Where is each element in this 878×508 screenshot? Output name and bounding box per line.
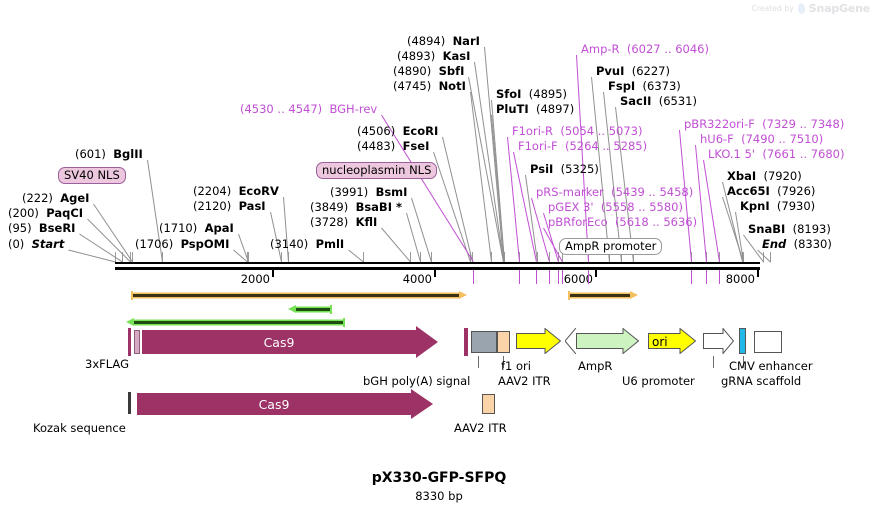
enzyme-label-ecorv: (2204) EcoRV [193, 185, 279, 197]
primer-range: (5618 .. 5636) [615, 215, 697, 229]
enzyme-position: (2204) [193, 184, 231, 198]
enzyme-name: PspOMI [181, 237, 230, 251]
primer-range: (5054 .. 5073) [560, 124, 642, 138]
primer-arrow-head [288, 305, 296, 313]
feature-aav2-itr[interactable] [497, 331, 510, 353]
primer-tick [473, 270, 474, 284]
enzyme-label-pasi: (2120) PasI [193, 200, 266, 212]
enzyme-label-bsabi-: (3849) BsaBI * [310, 201, 402, 213]
enzyme-position: (4745) [393, 79, 431, 93]
enzyme-label-agei: (222) AgeI [22, 192, 89, 204]
enzyme-label-pmli: (3140) PmlI [270, 238, 344, 250]
snapgene-watermark: Created by SnapGene [752, 2, 871, 15]
feature-grna-scaffold[interactable] [739, 328, 746, 354]
primer-tick [562, 270, 563, 284]
leader-line [576, 55, 589, 262]
feature-ampr[interactable] [576, 328, 639, 354]
primer-name: pGEX 3' [548, 200, 594, 214]
primer-tick [549, 270, 550, 284]
enzyme-position: (3728) [310, 215, 348, 229]
enzyme-name: BseRI [39, 221, 76, 235]
enzyme-label-sbfi: (4890) SbfI [393, 65, 464, 77]
enzyme-name: SfoI [496, 87, 521, 101]
feature-ori[interactable]: ori [648, 328, 696, 354]
primer-label-prs-marker: pRS-marker (5439 .. 5458) [536, 186, 693, 198]
enzyme-position: (95) [8, 221, 32, 235]
primer-tick [519, 270, 520, 284]
enzyme-position: (0) [8, 237, 24, 251]
ruler-tick-label: 6000 [564, 272, 595, 286]
ruler-tick [272, 270, 274, 277]
feature-cas9[interactable]: Cas9 [142, 326, 438, 358]
primer-arrow-shaft [134, 321, 343, 324]
enzyme-name: FseI [403, 139, 430, 153]
primer-range: (7329 .. 7348) [762, 117, 844, 131]
feature-arrow-shape [576, 328, 639, 354]
primer-arrow-shaft [296, 308, 330, 311]
enzyme-name: PasI [239, 199, 266, 213]
primer-range: (6027 .. 6046) [627, 42, 709, 56]
feature-arrow-shape [516, 328, 561, 354]
enzyme-label-xbai: XbaI (7920) [727, 170, 802, 182]
enzyme-position: (4483) [357, 139, 395, 153]
enzyme-label-bglii: (601) BglII [75, 148, 143, 160]
primer-range: (5558 .. 5580) [601, 200, 683, 214]
enzyme-name: XbaI [727, 169, 756, 183]
page-title: pX330-GFP-SFPQ [0, 470, 878, 486]
enzyme-position: (8330) [794, 237, 832, 251]
enzyme-position: (3991) [330, 185, 368, 199]
feature-nucleoplasmin-nls-bar[interactable] [464, 328, 468, 356]
arrow-orange-1 [131, 291, 467, 300]
primer-arrow-tail [568, 291, 570, 300]
arrow-orange-2 [568, 291, 638, 300]
enzyme-label-paqci: (200) PaqCI [8, 207, 83, 219]
enzyme-position: (7920) [763, 169, 801, 183]
feature-label-f1-ori: f1 ori [501, 359, 531, 373]
enzyme-position: (6373) [643, 79, 681, 93]
enzyme-label-end: End (8330) [762, 238, 832, 250]
primer-tick [706, 270, 707, 284]
primer-name: Amp-R [581, 42, 620, 56]
primer-arrow-head [459, 291, 467, 299]
leader-line [695, 145, 707, 262]
enzyme-label-pspomi: (1706) PspOMI [135, 238, 229, 250]
feature-aav2-itr-row2[interactable] [482, 394, 495, 414]
enzyme-position: (4890) [393, 64, 431, 78]
primer-label-pbr322ori-f: pBR322ori-F (7329 .. 7348) [684, 118, 844, 130]
snapgene-map-canvas: Created by SnapGene (0) Start(95) BseRI(… [0, 0, 878, 508]
enzyme-label-kasi: (4893) KasI [397, 50, 470, 62]
enzyme-label-fspi: FspI (6373) [608, 80, 681, 92]
enzyme-name: BglII [113, 147, 143, 161]
enzyme-name: KasI [443, 49, 471, 63]
feature-label-u6-promoter: U6 promoter [622, 374, 695, 388]
feature-label-bgh-poly-a-signal: bGH poly(A) signal [363, 374, 470, 388]
primer-tick [558, 270, 559, 284]
feature-badge-ampr-promoter[interactable]: AmpR promoter [559, 238, 662, 255]
enzyme-label-sfoi: SfoI (4895) [496, 88, 567, 100]
enzyme-position: (6531) [659, 94, 697, 108]
leader-line [283, 197, 289, 262]
primer-name: F1ori-R [512, 124, 553, 138]
enzyme-position: (601) [75, 147, 106, 161]
feature-arrow-shape [703, 328, 734, 354]
enzyme-name: SbfI [439, 64, 465, 78]
feature-arrow-shape [565, 328, 576, 354]
ruler-tick-label: 2000 [241, 272, 272, 286]
enzyme-name: Start [32, 237, 65, 251]
primer-label-hu6-f: hU6-F (7490 .. 7510) [700, 133, 823, 145]
primer-label-f1ori-f: F1ori-F (5264 .. 5285) [518, 140, 647, 152]
primer-tick [536, 270, 537, 284]
feature-label-aav2-itr-row2: AAV2 ITR [454, 421, 507, 435]
watermark-brand-text: SnapGene [809, 2, 870, 15]
primer-name: pBR322ori-F [684, 117, 755, 131]
feature-label-connector [713, 356, 714, 368]
leader-line [470, 92, 492, 262]
primer-label-pgex-3-: pGEX 3' (5558 .. 5580) [548, 201, 683, 213]
ruler-tick [757, 270, 759, 277]
enzyme-name: EcoRI [403, 124, 439, 138]
enzyme-name: SnaBI [748, 222, 785, 236]
enzyme-label-bseri: (95) BseRI [8, 222, 75, 234]
enzyme-label-nari: (4894) NarI [407, 35, 480, 47]
primer-label-pbrforeco: pBRforEco (5618 .. 5636) [548, 216, 697, 228]
feature-cas9-row2[interactable]: Cas9 [137, 389, 433, 419]
enzyme-name: Acc65I [727, 184, 770, 198]
primer-name: pBRforEco [548, 215, 608, 229]
primer-name: pRS-marker [536, 185, 604, 199]
ruler-line-bottom [115, 267, 760, 270]
enzyme-label-noti: (4745) NotI [393, 80, 466, 92]
enzyme-name: End [762, 237, 786, 251]
primer-name: LKO.1 5' [708, 147, 755, 161]
enzyme-position: (4894) [407, 34, 445, 48]
enzyme-position: (4893) [397, 49, 435, 63]
primer-arrow-tail [330, 305, 332, 314]
feature-label-connector [478, 356, 479, 368]
feature-label-cmv-enhancer: CMV enhancer [729, 359, 813, 373]
feature-label-3xflag: 3xFLAG [85, 357, 129, 371]
feature-badge-nucleoplasmin-nls[interactable]: nucleoplasmin NLS [316, 162, 437, 179]
enzyme-position: (7930) [777, 199, 815, 213]
enzyme-name: EcoRV [239, 184, 279, 198]
feature-bgh-poly-a-signal[interactable] [471, 331, 497, 353]
arrow-green-1 [288, 305, 332, 314]
primer-arrow-head [126, 318, 134, 326]
enzyme-name: PaqCI [46, 206, 83, 220]
ruler-tick [595, 270, 597, 277]
enzyme-name: SacII [620, 94, 651, 108]
enzyme-name: PsiI [530, 162, 553, 176]
enzyme-position: (200) [8, 206, 39, 220]
leader-line [743, 235, 764, 263]
feature-sv40-nls-bar[interactable] [134, 330, 140, 354]
enzyme-position: (3140) [270, 237, 308, 251]
primer-range: (5264 .. 5285) [565, 139, 647, 153]
primer-label-amp-r: Amp-R (6027 .. 6046) [581, 43, 709, 55]
primer-arrow-tail [131, 291, 133, 300]
primer-name: hU6-F [700, 132, 734, 146]
primer-tick [719, 270, 720, 284]
primer-arrow-shaft [570, 294, 630, 297]
enzyme-position: (1710) [159, 221, 197, 235]
primer-tick [691, 270, 692, 284]
feature-label-ampr: AmpR [578, 359, 612, 373]
enzyme-position: (4506) [357, 124, 395, 138]
enzyme-name: FspI [608, 79, 635, 93]
primer-range: (7661 .. 7680) [762, 147, 844, 161]
feature-label-aav2-itr: AAV2 ITR [498, 374, 551, 388]
leader-line [93, 204, 133, 263]
feature-label: Cas9 [142, 335, 416, 350]
enzyme-position: (2120) [193, 199, 231, 213]
enzyme-label-acc65i: Acc65I (7926) [727, 185, 815, 197]
primer-range: (5439 .. 5458) [611, 185, 693, 199]
enzyme-label-pluti: PluTI (4897) [496, 103, 574, 115]
enzyme-position: (3849) [310, 200, 348, 214]
ruler-tick [434, 270, 436, 277]
enzyme-name: NotI [439, 79, 466, 93]
enzyme-name: KpnI [740, 199, 770, 213]
primer-arrow-head [630, 291, 638, 299]
feature-u6-promoter[interactable] [703, 328, 734, 354]
feature-kozak-sequence[interactable] [128, 392, 131, 414]
enzyme-position: (5325) [561, 162, 599, 176]
ruler-line-top [115, 262, 760, 264]
enzyme-label-fsei: (4483) FseI [357, 140, 429, 152]
enzyme-label-pvui: PvuI (6227) [596, 65, 670, 77]
enzyme-name: NarI [453, 34, 480, 48]
enzyme-name: PluTI [496, 102, 529, 116]
feature-label-kozak-sequence: Kozak sequence [33, 421, 126, 435]
primer-tick [588, 270, 589, 284]
enzyme-label-ecori: (4506) EcoRI [357, 125, 438, 137]
primer-label-f1ori-r: F1ori-R (5054 .. 5073) [512, 125, 642, 137]
enzyme-position: (8193) [793, 222, 831, 236]
snapgene-logo-icon [797, 3, 805, 15]
enzyme-label-snabi: SnaBI (8193) [748, 223, 831, 235]
enzyme-name: BsmI [376, 185, 408, 199]
primer-label-lko-1-5-: LKO.1 5' (7661 .. 7680) [708, 148, 844, 160]
feature-label-grna-scaffold: gRNA scaffold [721, 374, 801, 388]
enzyme-label-sacii: SacII (6531) [620, 95, 697, 107]
watermark-created-by-text: Created by [752, 4, 794, 13]
primer-range: (7490 .. 7510) [741, 132, 823, 146]
enzyme-position: (1706) [135, 237, 173, 251]
primer-name: BGH-rev [329, 102, 377, 116]
leader-line [381, 228, 411, 263]
page-subtitle: 8330 bp [0, 489, 878, 503]
enzyme-label-apai: (1710) ApaI [159, 222, 234, 234]
feature-3xflag[interactable] [128, 328, 131, 356]
feature-arrow-tip [416, 326, 438, 358]
enzyme-name: PvuI [596, 64, 624, 78]
feature-u6-promoter-left[interactable] [565, 328, 576, 354]
primer-range: (4530 .. 4547) [240, 102, 322, 116]
enzyme-label-psii: PsiI (5325) [530, 163, 599, 175]
feature-badge-sv40-nls[interactable]: SV40 NLS [58, 167, 126, 184]
enzyme-position: (4895) [529, 87, 567, 101]
enzyme-position: (6227) [632, 64, 670, 78]
enzyme-name: ApaI [205, 221, 234, 235]
enzyme-position: (4897) [536, 102, 574, 116]
primer-name: F1ori-F [518, 139, 558, 153]
feature-cmv-enhancer[interactable] [754, 331, 782, 353]
leader-line [411, 198, 432, 262]
enzyme-label-start: (0) Start [8, 238, 64, 250]
feature-arrow-tip [411, 389, 433, 419]
ruler-tick-label: 4000 [403, 272, 434, 286]
ruler-tick-label: 8000 [726, 272, 757, 286]
enzyme-label-kpni: KpnI (7930) [740, 200, 815, 212]
enzyme-name: KflI [356, 215, 378, 229]
enzyme-name: PmlI [316, 237, 345, 251]
leader-line [442, 137, 473, 262]
enzyme-position: (7926) [777, 184, 815, 198]
enzyme-label-kfli: (3728) KflI [310, 216, 377, 228]
primer-arrow-shaft [133, 294, 459, 297]
leader-line [348, 250, 364, 263]
feature-f1-ori[interactable] [516, 328, 561, 354]
enzyme-position: (222) [22, 191, 53, 205]
enzyme-label-bsmi: (3991) BsmI [330, 186, 407, 198]
enzyme-name: BsaBI * [356, 200, 402, 214]
feature-label: Cas9 [137, 397, 411, 412]
primer-label-bgh-rev: (4530 .. 4547) BGH-rev [240, 103, 377, 115]
feature-label: ori [652, 335, 668, 349]
enzyme-name: AgeI [60, 191, 89, 205]
